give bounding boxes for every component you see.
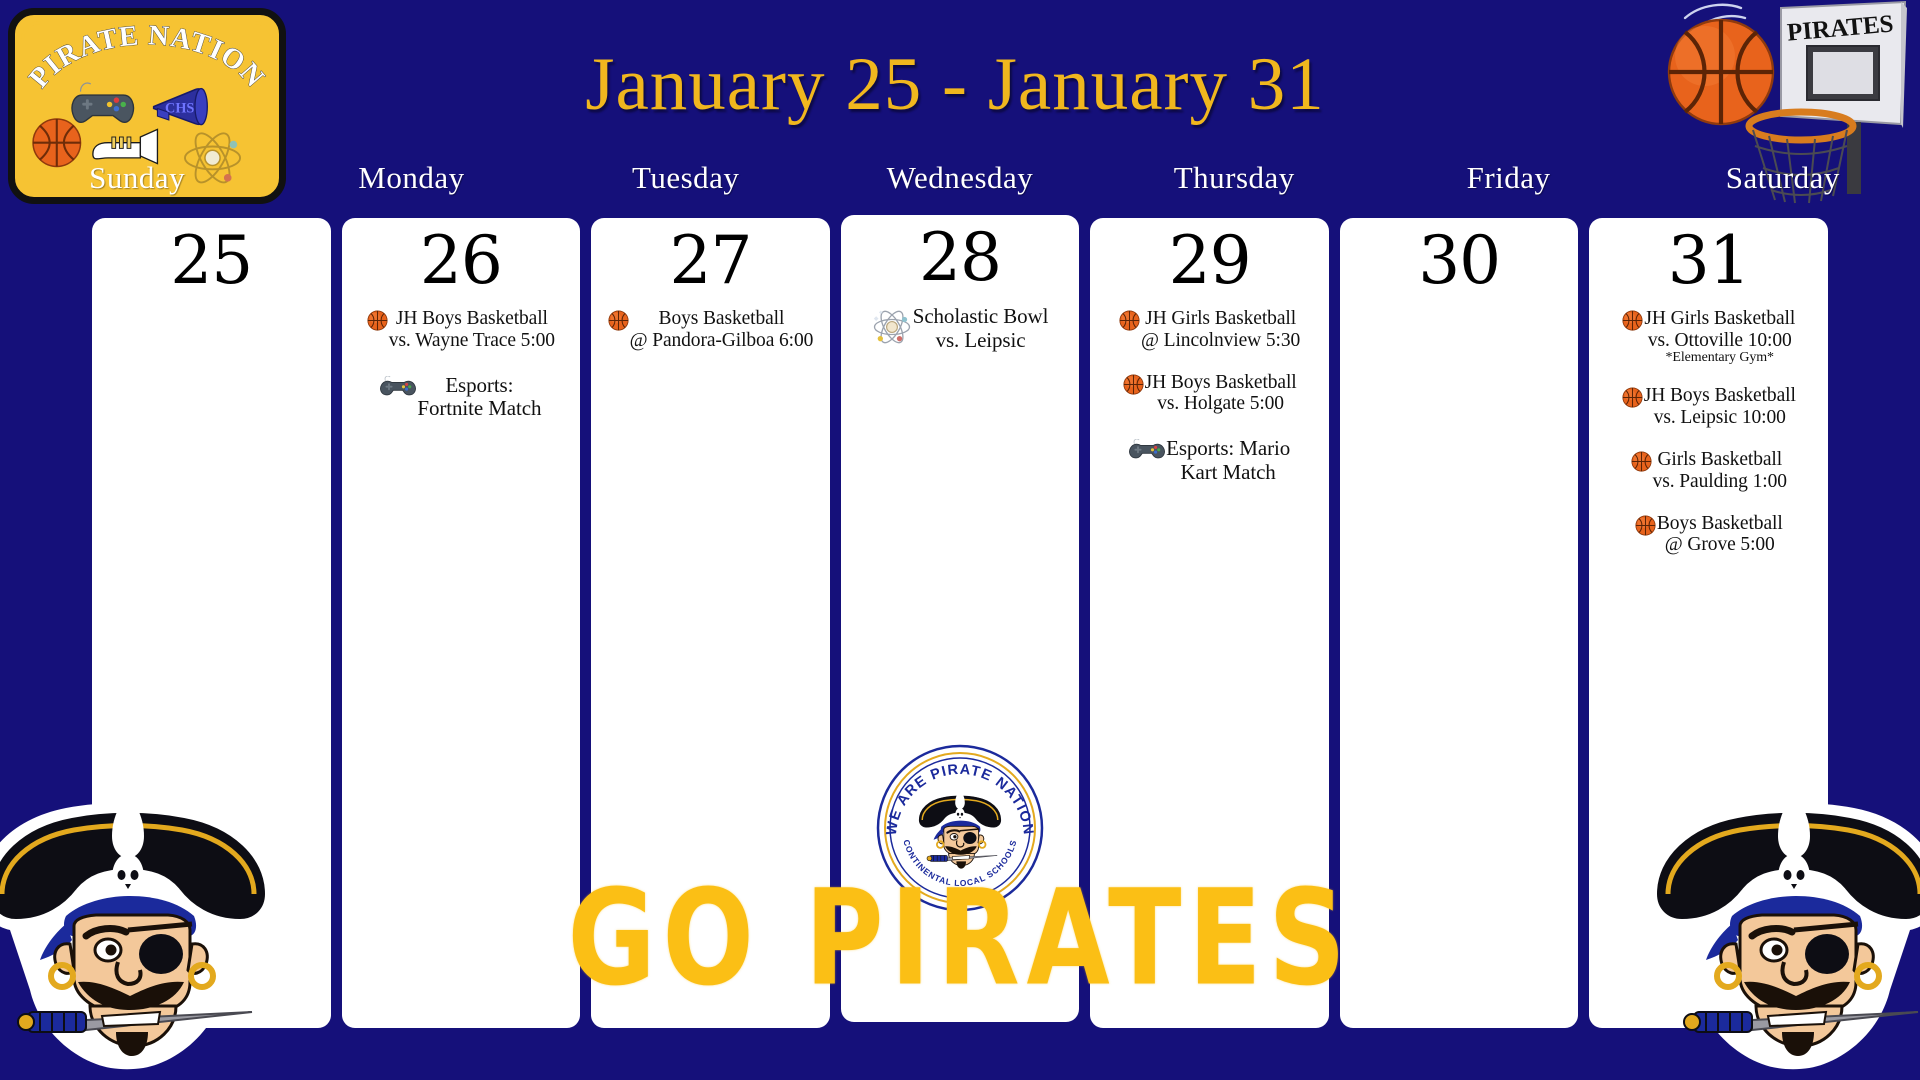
event-text: Scholastic Bowlvs. Leipsic	[913, 305, 1049, 352]
basketball-icon	[1119, 310, 1140, 331]
event-text: JH Boys Basketballvs. Holgate 5:00	[1145, 372, 1297, 416]
basketball-icon	[608, 310, 629, 331]
event-text: JH Boys Basketballvs. Leipsic 10:00	[1644, 385, 1796, 429]
calendar-poster: PIRATE NATION CHS	[0, 0, 1920, 1080]
event-list: JH Girls Basketball@ Lincolnview 5:30JH …	[1090, 294, 1329, 484]
basketball-icon	[1635, 515, 1656, 536]
megaphone-label: CHS	[165, 100, 194, 116]
basketball-icon	[1631, 451, 1652, 472]
event-item[interactable]: Scholastic Bowlvs. Leipsic	[845, 305, 1076, 352]
event-item[interactable]: JH Girls Basketball@ Lincolnview 5:30	[1094, 308, 1325, 352]
weekday-tuesday: Tuesday	[549, 160, 823, 208]
event-line-1: JH Boys Basketball	[396, 308, 548, 329]
day-number: 28	[841, 215, 1080, 291]
basketball-icon	[1622, 387, 1643, 408]
pirate-mascot-right	[1628, 784, 1920, 1080]
day-card-tuesday[interactable]: 27Boys Basketball@ Pandora-Gilboa 6:00	[591, 218, 830, 1028]
day-number: 27	[591, 218, 830, 294]
event-item[interactable]: JH Boys Basketballvs. Leipsic 10:00	[1593, 385, 1824, 429]
event-line-1: JH Boys Basketball	[1644, 385, 1796, 406]
weekday-sunday: Sunday	[0, 160, 274, 208]
page-title: January 25 - January 31	[300, 42, 1610, 128]
event-line-1: JH Girls Basketball	[1644, 308, 1795, 329]
basketball-icon	[367, 310, 388, 331]
event-item[interactable]: Girls Basketballvs. Paulding 1:00	[1593, 449, 1824, 493]
megaphone-icon: CHS	[154, 89, 208, 125]
pirate-nation-seal: WE ARE PIRATE NATIONCONTINENTAL LOCAL SC…	[876, 744, 1044, 912]
event-line-2: @ Lincolnview 5:30	[1141, 330, 1300, 351]
day-card-friday[interactable]: 30	[1340, 218, 1579, 1028]
basketball-icon	[608, 310, 629, 336]
basketball-icon	[1635, 515, 1656, 541]
trumpet-icon	[93, 129, 158, 163]
event-text: Boys Basketball@ Pandora-Gilboa 6:00	[630, 308, 814, 352]
event-line-1: JH Boys Basketball	[1145, 372, 1297, 393]
atom-icon	[872, 307, 912, 347]
event-text: Girls Basketballvs. Paulding 1:00	[1653, 449, 1787, 493]
event-line-1: Girls Basketball	[1657, 449, 1782, 470]
event-item[interactable]: JH Boys Basketballvs. Holgate 5:00	[1094, 372, 1325, 416]
event-item[interactable]: Esports:Fortnite Match	[346, 374, 577, 421]
event-line-2: vs. Holgate 5:00	[1157, 393, 1284, 414]
event-line-2: vs. Wayne Trace 5:00	[389, 330, 555, 351]
weekday-header-row: Sunday Monday Tuesday Wednesday Thursday…	[0, 160, 1920, 208]
day-number: 25	[92, 218, 331, 294]
event-line-1: Boys Basketball	[1657, 513, 1783, 534]
event-line-1: JH Girls Basketball	[1145, 308, 1296, 329]
event-text: Esports: MarioKart Match	[1166, 437, 1290, 484]
basketball-art-icon	[1669, 20, 1773, 124]
basketball-icon	[367, 310, 388, 336]
basketball-icon	[1123, 374, 1144, 395]
weekday-friday: Friday	[1371, 160, 1645, 208]
event-line-2: @ Grove 5:00	[1665, 534, 1775, 555]
day-number: 26	[342, 218, 581, 294]
weekday-wednesday: Wednesday	[823, 160, 1097, 208]
event-item[interactable]: Boys Basketball@ Pandora-Gilboa 6:00	[595, 308, 826, 352]
game-controller-icon	[1129, 439, 1165, 471]
event-list: Boys Basketball@ Pandora-Gilboa 6:00	[591, 294, 830, 352]
pirate-mascot-left	[0, 784, 292, 1080]
event-item[interactable]: Boys Basketball@ Grove 5:00	[1593, 513, 1824, 557]
day-card-wednesday[interactable]: 28Scholastic Bowlvs. LeipsicWE ARE PIRAT…	[841, 215, 1080, 1022]
event-line-2: Kart Match	[1180, 460, 1275, 484]
event-line-1: Esports: Mario	[1166, 436, 1290, 460]
game-controller-icon	[380, 376, 416, 403]
event-list: JH Boys Basketballvs. Wayne Trace 5:00Es…	[342, 294, 581, 421]
event-line-1: Scholastic Bowl	[913, 304, 1049, 328]
basketball-icon	[1119, 310, 1140, 336]
event-list: Scholastic Bowlvs. Leipsic	[841, 291, 1080, 352]
game-controller-icon	[380, 376, 416, 408]
game-controller-icon	[1129, 439, 1165, 466]
day-number: 29	[1090, 218, 1329, 294]
event-line-2: vs. Paulding 1:00	[1653, 471, 1787, 492]
event-item[interactable]: JH Boys Basketballvs. Wayne Trace 5:00	[346, 308, 577, 352]
day-card-thursday[interactable]: 29JH Girls Basketball@ Lincolnview 5:30J…	[1090, 218, 1329, 1028]
day-number: 30	[1340, 218, 1579, 294]
weekday-saturday: Saturday	[1646, 160, 1920, 208]
day-number: 31	[1589, 218, 1828, 294]
event-line-2: Fortnite Match	[417, 396, 541, 420]
controller-icon	[72, 83, 133, 122]
event-text: Esports:Fortnite Match	[417, 374, 541, 421]
atom-icon	[872, 307, 912, 352]
event-text: Boys Basketball@ Grove 5:00	[1657, 513, 1783, 557]
event-line-2: vs. Ottoville 10:00	[1648, 330, 1792, 351]
basketball-icon	[1622, 310, 1643, 336]
event-line-2: vs. Leipsic	[936, 328, 1026, 352]
event-text: JH Girls Basketballvs. Ottoville 10:00*E…	[1644, 308, 1795, 365]
basketball-icon	[1622, 387, 1643, 413]
event-line-1: Esports:	[445, 373, 513, 397]
event-line-1: Boys Basketball	[659, 308, 785, 329]
basketball-icon	[1622, 310, 1643, 331]
event-line-2: @ Pandora-Gilboa 6:00	[630, 330, 814, 351]
basketball-icon	[1123, 374, 1144, 400]
event-item[interactable]: JH Girls Basketballvs. Ottoville 10:00*E…	[1593, 308, 1824, 365]
event-note: *Elementary Gym*	[1644, 350, 1795, 366]
event-item[interactable]: Esports: MarioKart Match	[1094, 437, 1325, 484]
weekday-monday: Monday	[274, 160, 548, 208]
day-card-monday[interactable]: 26JH Boys Basketballvs. Wayne Trace 5:00…	[342, 218, 581, 1028]
weekday-thursday: Thursday	[1097, 160, 1371, 208]
basketball-icon	[1631, 451, 1652, 477]
event-text: JH Girls Basketball@ Lincolnview 5:30	[1141, 308, 1300, 352]
event-line-2: vs. Leipsic 10:00	[1654, 407, 1786, 428]
event-list: JH Girls Basketballvs. Ottoville 10:00*E…	[1589, 294, 1828, 556]
event-text: JH Boys Basketballvs. Wayne Trace 5:00	[389, 308, 555, 352]
